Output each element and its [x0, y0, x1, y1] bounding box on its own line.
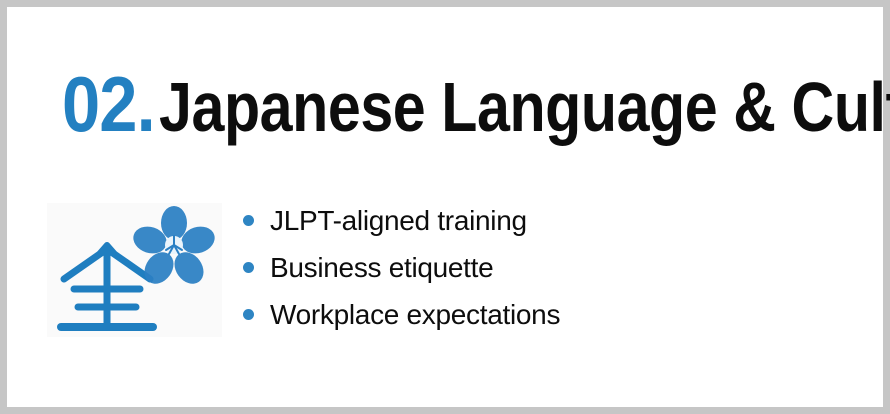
section-number: 02. — [62, 65, 155, 143]
bullet-dot-icon — [243, 262, 254, 273]
list-item-label: Workplace expectations — [270, 301, 560, 329]
slide-heading: 02.Japanese Language & Culture — [62, 65, 890, 143]
bullet-dot-icon — [243, 309, 254, 320]
list-item: JLPT-aligned training — [243, 197, 560, 244]
list-item-label: JLPT-aligned training — [270, 207, 527, 235]
slide-frame: 02.Japanese Language & Culture — [0, 0, 890, 414]
list-item: Workplace expectations — [243, 291, 560, 338]
bullet-dot-icon — [243, 215, 254, 226]
page-title: Japanese Language & Culture — [159, 72, 890, 142]
slide-content-area: 02.Japanese Language & Culture — [7, 7, 883, 407]
kanji-sakura-illustration — [47, 203, 222, 337]
kanji-zen-icon — [61, 245, 153, 327]
list-item-label: Business etiquette — [270, 254, 493, 282]
feature-bullet-list: JLPT-aligned training Business etiquette… — [243, 197, 560, 338]
japanese-culture-icon — [47, 203, 222, 337]
list-item: Business etiquette — [243, 244, 560, 291]
